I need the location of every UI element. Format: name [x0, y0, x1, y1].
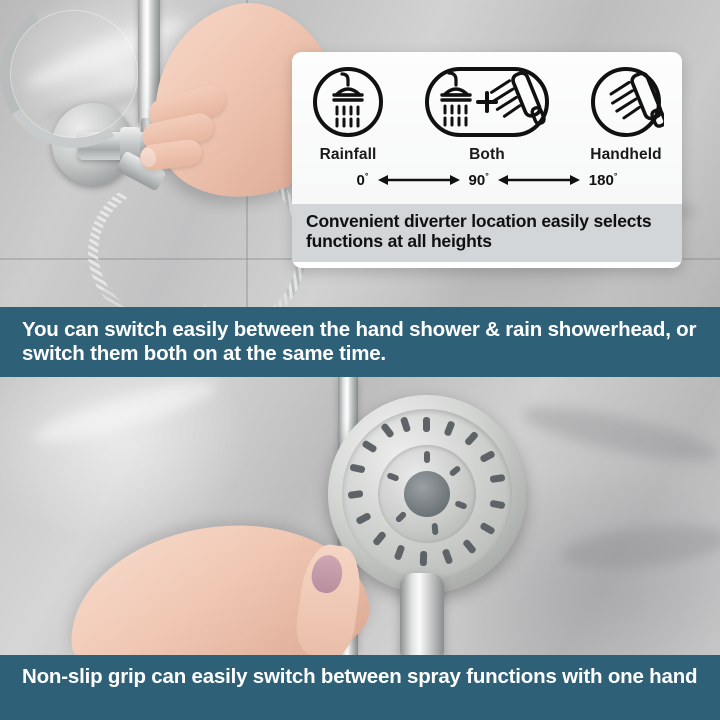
degree-scale-row: 0° 90° 180° [292, 171, 682, 189]
degree-start: 0° [357, 171, 369, 189]
degree-end: 180° [589, 171, 618, 189]
product-infographic: Rainfall [0, 0, 720, 720]
card-footer: Convenient diverter location easily sele… [292, 204, 682, 262]
mode-label-handheld: Handheld [590, 146, 661, 164]
spray-jet-inner [431, 523, 438, 535]
mode-rainfall: Rainfall [310, 64, 386, 164]
mode-label-rainfall: Rainfall [320, 146, 377, 164]
card-icons-section: Rainfall [292, 52, 682, 204]
card-footer-text: Convenient diverter location easily sele… [306, 212, 668, 252]
marble-vein [558, 518, 720, 576]
marble-vein [30, 377, 221, 453]
mode-both: Both [423, 64, 551, 164]
mode-icons-row: Rainfall [292, 52, 682, 164]
mode-handheld: Handheld [588, 64, 664, 164]
banner-middle-text: You can switch easily between the hand s… [0, 318, 720, 366]
rainfall-plus-handheld-icon [423, 64, 551, 140]
degree-middle: 90° [469, 171, 489, 189]
banner-bottom: Non-slip grip can easily switch between … [0, 655, 720, 720]
banner-middle: You can switch easily between the hand s… [0, 307, 720, 377]
diverter-info-card: Rainfall [292, 52, 682, 268]
handheld-shower-icon [588, 64, 664, 140]
showerhead-center-core [404, 471, 450, 517]
spray-jet [423, 417, 430, 432]
showerhead-handle [400, 573, 444, 655]
double-arrow-icon [496, 173, 582, 187]
bottom-product-photo [0, 377, 720, 655]
marble-vein [519, 397, 720, 472]
mode-label-both: Both [469, 146, 505, 164]
handheld-showerhead [328, 395, 526, 593]
spray-jet-inner [424, 451, 430, 463]
double-arrow-icon [376, 173, 462, 187]
rainfall-shower-icon [310, 64, 386, 140]
banner-bottom-text: Non-slip grip can easily switch between … [0, 655, 719, 689]
spray-jet [420, 551, 428, 566]
